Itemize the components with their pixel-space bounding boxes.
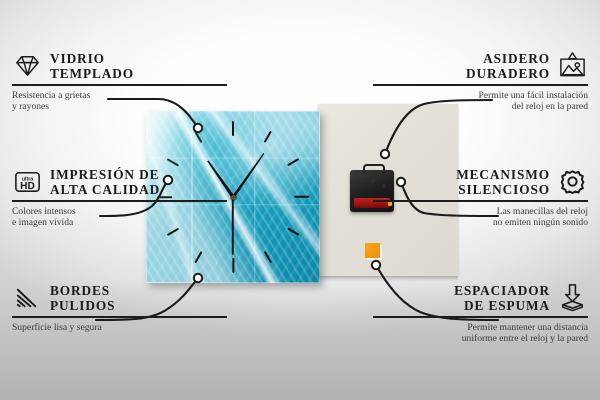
title-line-2: PULIDOS [50, 298, 115, 313]
title-line-1: IMPRESIÓN DE [50, 167, 160, 182]
feature-header: ultra HD IMPRESIÓN DE ALTA CALIDAD [12, 166, 227, 197]
title-line-2: DE ESPUMA [454, 298, 550, 313]
infographic-canvas: VIDRIO TEMPLADO Resistencia a grietas y … [0, 0, 600, 400]
divider [373, 200, 588, 202]
feature-title: ASIDERO DURADERO [466, 51, 550, 81]
marker-asidero [381, 150, 389, 158]
feature-description: Permite una fácil instalación del reloj … [373, 90, 588, 113]
title-line-2: SILENCIOSO [456, 182, 550, 197]
feature-title: IMPRESIÓN DE ALTA CALIDAD [50, 167, 160, 197]
feature-header: BORDES PULIDOS [12, 282, 227, 313]
ultra-hd-badge-icon: ultra HD [12, 166, 43, 197]
title-line-1: VIDRIO [50, 51, 134, 66]
divider [12, 84, 227, 86]
feature-impresion-alta-calidad: ultra HD IMPRESIÓN DE ALTA CALIDAD Color… [12, 166, 227, 228]
feature-description: Colores intensos e imagen vívida [12, 206, 227, 229]
feature-title: VIDRIO TEMPLADO [50, 51, 134, 81]
title-line-1: ESPACIADOR [454, 283, 550, 298]
feature-espaciador-de-espuma: ESPACIADOR DE ESPUMA Permite mantener un… [373, 282, 588, 344]
desc-line-1: Las manecillas del reloj [373, 206, 588, 217]
title-line-2: ALTA CALIDAD [50, 182, 160, 197]
title-line-1: MECANISMO [456, 167, 550, 182]
feature-title: BORDES PULIDOS [50, 283, 115, 313]
desc-line-1: Colores intensos [12, 206, 227, 217]
title-line-1: ASIDERO [466, 51, 550, 66]
diamond-icon [12, 50, 43, 81]
desc-line-1: Superficie lisa y segura [12, 322, 227, 333]
feature-description: Las manecillas del reloj no emiten ningú… [373, 206, 588, 229]
desc-line-2: e imagen vívida [12, 217, 227, 228]
badge-large-text: HD [20, 181, 35, 192]
feature-description: Superficie lisa y segura [12, 322, 227, 333]
feature-title: ESPACIADOR DE ESPUMA [454, 283, 550, 313]
feature-header: VIDRIO TEMPLADO [12, 50, 227, 81]
desc-line-2: del reloj en la pared [373, 101, 588, 112]
desc-line-1: Permite mantener una distancia [373, 322, 588, 333]
title-line-2: DURADERO [466, 66, 550, 81]
divider [12, 316, 227, 318]
feature-vidrio-templado: VIDRIO TEMPLADO Resistencia a grietas y … [12, 50, 227, 112]
marker-espaciador [372, 261, 380, 269]
marker-bordes [194, 274, 202, 282]
divider [12, 200, 227, 202]
polished-edges-icon [12, 282, 43, 313]
marker-vidrio-templado [194, 124, 202, 132]
feature-header: ESPACIADOR DE ESPUMA [373, 282, 588, 313]
gear-icon [557, 166, 588, 197]
feature-mecanismo-silencioso: MECANISMO SILENCIOSO Las manecillas del … [373, 166, 588, 228]
title-line-1: BORDES [50, 283, 115, 298]
feature-header: ASIDERO DURADERO [373, 50, 588, 81]
desc-line-2: uniforme entre el reloj y la pared [373, 333, 588, 344]
divider [373, 84, 588, 86]
feature-description: Permite mantener una distancia uniforme … [373, 322, 588, 345]
feature-description: Resistencia a grietas y rayones [12, 90, 227, 113]
framed-picture-hanging-icon [557, 50, 588, 81]
feature-asidero-duradero: ASIDERO DURADERO Permite una fácil insta… [373, 50, 588, 112]
desc-line-2: no emiten ningún sonido [373, 217, 588, 228]
feature-bordes-pulidos: BORDES PULIDOS Superficie lisa y segura [12, 282, 227, 333]
desc-line-1: Permite una fácil instalación [373, 90, 588, 101]
desc-line-2: y rayones [12, 101, 227, 112]
feature-title: MECANISMO SILENCIOSO [456, 167, 550, 197]
feature-header: MECANISMO SILENCIOSO [373, 166, 588, 197]
divider [373, 316, 588, 318]
press-down-foam-icon [557, 282, 588, 313]
title-line-2: TEMPLADO [50, 66, 134, 81]
desc-line-1: Resistencia a grietas [12, 90, 227, 101]
